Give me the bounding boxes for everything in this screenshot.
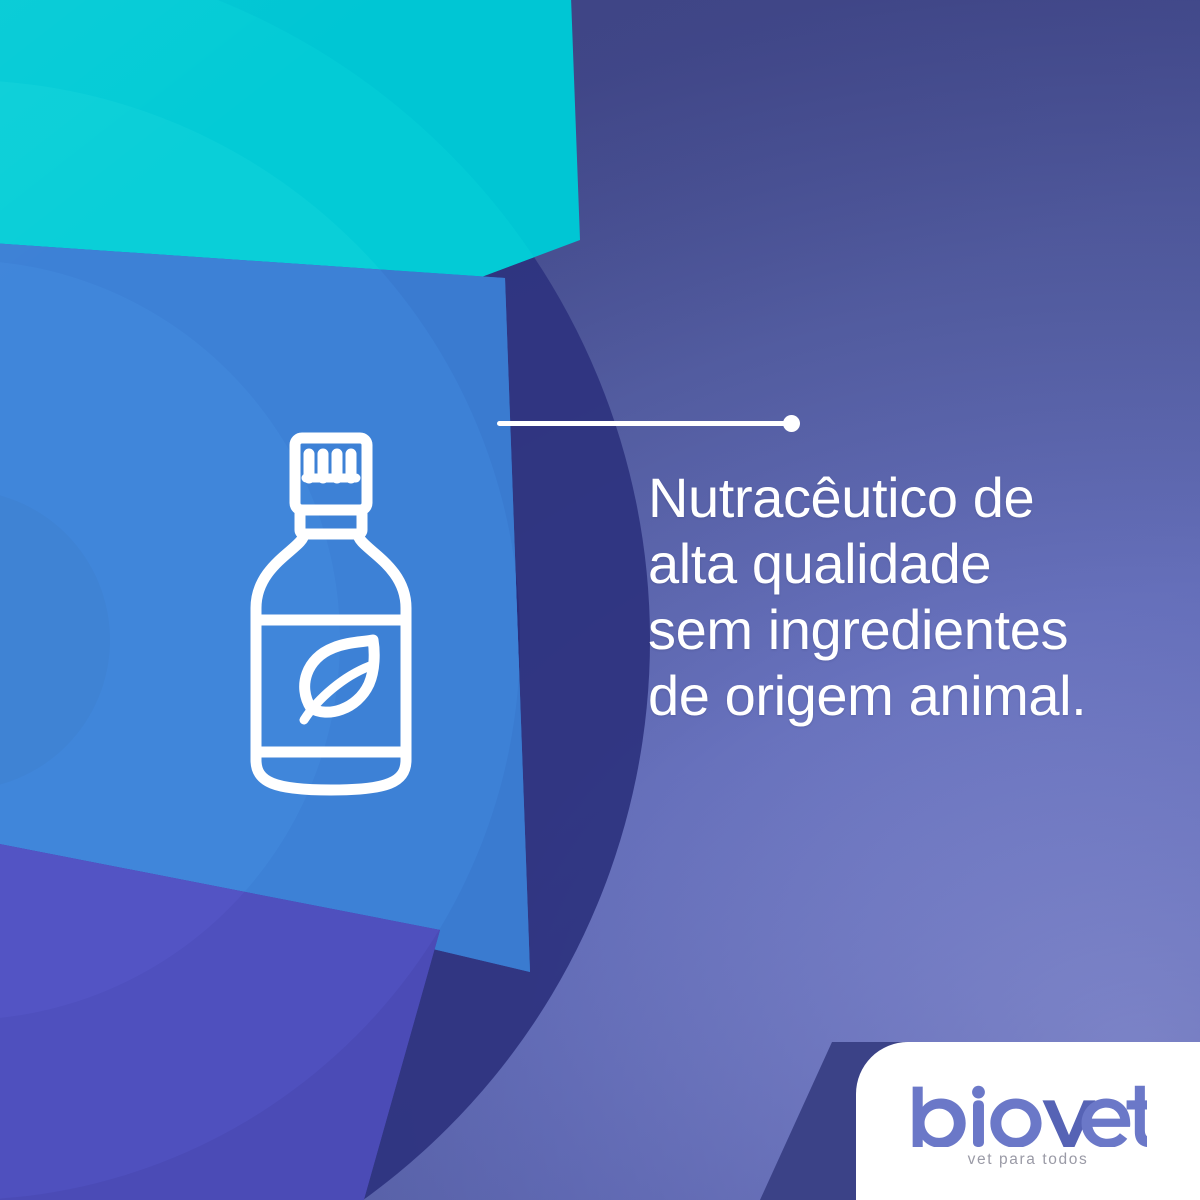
divider-rule xyxy=(497,421,794,426)
headline-text: Nutracêutico de alta qualidade sem ingre… xyxy=(648,465,1168,729)
brand-tagline: vet para todos xyxy=(968,1151,1089,1169)
divider-dot-icon xyxy=(783,415,800,432)
biovet-wordmark-logo xyxy=(909,1083,1147,1147)
brand-logo-card: vet para todos xyxy=(856,1042,1200,1200)
brand-logo-wrap: vet para todos xyxy=(856,1042,1200,1200)
supplement-bottle-with-leaf-icon xyxy=(238,432,424,796)
poster-canvas: Nutracêutico de alta qualidade sem ingre… xyxy=(0,0,1200,1200)
